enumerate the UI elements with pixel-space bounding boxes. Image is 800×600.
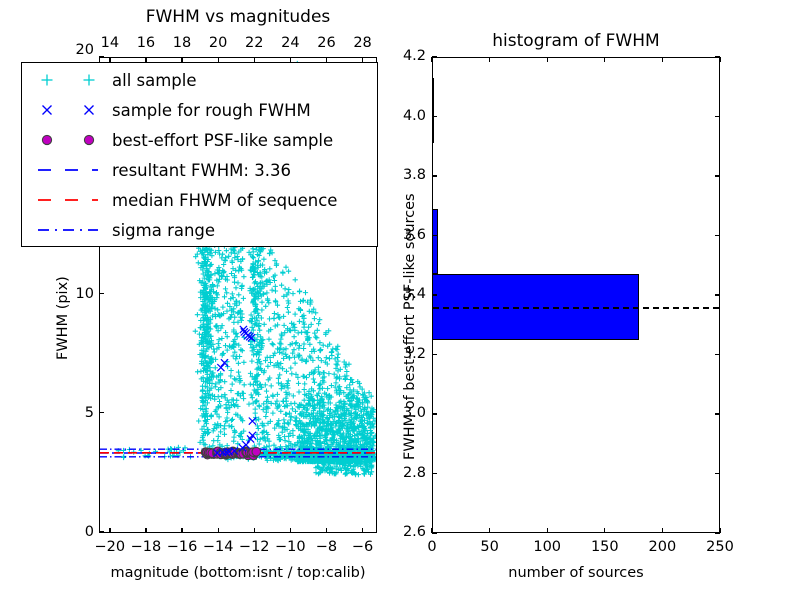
right-ytick-2 bbox=[432, 413, 437, 414]
left-xtick-bottom-label-1: −18 bbox=[128, 539, 164, 555]
left-xtick-bottom-1 bbox=[145, 528, 146, 533]
left-xaxis-label: magnitude (bottom:isnt / top:calib) bbox=[99, 565, 377, 581]
histogram-bars bbox=[433, 58, 719, 532]
right-ytick-label-1: 2.8 bbox=[390, 465, 426, 481]
left-xtick-bottom-label-0: −20 bbox=[92, 539, 128, 555]
left-xtick-bottom-label-7: −6 bbox=[345, 539, 381, 555]
right-ytick-right-3 bbox=[715, 354, 720, 355]
legend-entry-rough-fwhm[interactable]: sample for rough FWHM bbox=[26, 95, 371, 125]
left-panel-title: FWHM vs magnitudes bbox=[99, 7, 377, 27]
right-xtick-3 bbox=[604, 528, 605, 533]
right-ytick-right-2 bbox=[715, 413, 720, 414]
right-ytick-5 bbox=[432, 235, 437, 236]
right-ytick-right-7 bbox=[715, 116, 720, 117]
left-ytick-label-5: 5 bbox=[80, 405, 94, 421]
left-xtick-top-label-6: 26 bbox=[309, 35, 343, 51]
right-xaxis-label: number of sources bbox=[432, 565, 720, 581]
right-xtick-1 bbox=[489, 528, 490, 533]
left-xtick-bottom-6 bbox=[326, 528, 327, 533]
legend-entry-psf-like[interactable]: best-effort PSF-like sample bbox=[26, 125, 371, 155]
left-ytick-5 bbox=[99, 412, 104, 413]
legend-key-circle bbox=[26, 125, 110, 155]
right-xtick-top-0 bbox=[431, 57, 432, 62]
legend-label-all-sample: all sample bbox=[110, 71, 197, 90]
left-ytick-10 bbox=[99, 293, 104, 294]
left-xtick-top-label-0: 14 bbox=[93, 35, 127, 51]
left-xtick-bottom-3 bbox=[218, 528, 219, 533]
left-xtick-bottom-7 bbox=[362, 528, 363, 533]
left-ytick-20 bbox=[99, 56, 104, 57]
histogram-bar bbox=[432, 78, 434, 143]
left-xtick-bottom-label-4: −12 bbox=[236, 539, 272, 555]
right-ytick-0 bbox=[432, 532, 437, 533]
legend-key-dashdot bbox=[26, 215, 110, 245]
right-ytick-7 bbox=[432, 116, 437, 117]
legend-label-psf-like: best-effort PSF-like sample bbox=[110, 131, 333, 150]
right-xtick-label-2: 100 bbox=[527, 539, 567, 555]
legend-label-sigma-range: sigma range bbox=[110, 221, 215, 240]
histogram-resultant-fwhm-line bbox=[433, 307, 719, 309]
right-xtick-label-3: 150 bbox=[585, 539, 625, 555]
right-ytick-8 bbox=[432, 56, 437, 57]
right-ytick-1 bbox=[432, 473, 437, 474]
legend-entry-resultant-fwhm[interactable]: resultant FWHM: 3.36 bbox=[26, 155, 371, 185]
right-xtick-top-5 bbox=[719, 57, 720, 62]
legend-key-cross bbox=[26, 95, 110, 125]
left-xtick-bottom-0 bbox=[109, 528, 110, 533]
right-ytick-label-7: 4.0 bbox=[390, 108, 426, 124]
right-ytick-right-1 bbox=[715, 473, 720, 474]
right-xtick-2 bbox=[547, 528, 548, 533]
histogram-bar bbox=[432, 209, 438, 274]
right-ytick-right-6 bbox=[715, 175, 720, 176]
right-ytick-label-0: 2.6 bbox=[390, 524, 426, 540]
legend-key-plus bbox=[26, 65, 110, 95]
left-yaxis-label: FWHM (pix) bbox=[55, 276, 71, 360]
left-xtick-bottom-label-5: −10 bbox=[272, 539, 308, 555]
left-xtick-top-label-5: 24 bbox=[273, 35, 307, 51]
right-ytick-4 bbox=[432, 294, 437, 295]
right-xtick-top-2 bbox=[547, 57, 548, 62]
left-ytick-label-0: 0 bbox=[80, 524, 94, 540]
right-xtick-label-0: 0 bbox=[412, 539, 452, 555]
left-xtick-bottom-5 bbox=[290, 528, 291, 533]
left-xtick-top-label-1: 16 bbox=[129, 35, 163, 51]
right-yaxis-label: FWHM of best-effort PSF-like sources bbox=[402, 193, 418, 460]
right-plot-axes bbox=[432, 57, 720, 533]
right-xtick-top-4 bbox=[662, 57, 663, 62]
right-ytick-right-4 bbox=[715, 294, 720, 295]
right-xtick-label-5: 250 bbox=[700, 539, 740, 555]
legend-key-blue-dashed bbox=[26, 155, 110, 185]
left-xtick-bottom-4 bbox=[254, 528, 255, 533]
right-xtick-5 bbox=[719, 528, 720, 533]
left-ytick-label-20: 20 bbox=[71, 42, 94, 58]
right-ytick-3 bbox=[432, 354, 437, 355]
right-xtick-4 bbox=[662, 528, 663, 533]
right-ytick-right-5 bbox=[715, 235, 720, 236]
left-xtick-bottom-label-2: −16 bbox=[164, 539, 200, 555]
legend-label-rough-fwhm: sample for rough FWHM bbox=[110, 101, 311, 120]
legend-label-resultant-fwhm: resultant FWHM: 3.36 bbox=[110, 161, 291, 180]
left-xtick-top-label-3: 20 bbox=[201, 35, 235, 51]
figure-canvas: FWHM vs magnitudes bbox=[0, 0, 800, 600]
legend-box: all sample sample for rough FWHM best-ef… bbox=[21, 62, 378, 247]
left-xtick-top-label-4: 22 bbox=[237, 35, 271, 51]
right-panel-title: histogram of FWHM bbox=[432, 31, 720, 51]
right-ytick-6 bbox=[432, 175, 437, 176]
left-ytick-0 bbox=[99, 531, 104, 532]
right-xtick-0 bbox=[431, 528, 432, 533]
legend-key-red-dashed bbox=[26, 185, 110, 215]
left-xtick-top-label-7: 28 bbox=[346, 35, 380, 51]
psf-like-point bbox=[252, 447, 261, 456]
left-xtick-top-label-2: 18 bbox=[165, 35, 199, 51]
legend-entry-all-sample[interactable]: all sample bbox=[26, 65, 371, 95]
right-ytick-label-6: 3.8 bbox=[390, 167, 426, 183]
right-xtick-top-1 bbox=[489, 57, 490, 62]
right-ytick-label-8: 4.2 bbox=[390, 48, 426, 64]
right-xtick-top-3 bbox=[604, 57, 605, 62]
right-xtick-label-1: 50 bbox=[470, 539, 510, 555]
left-xtick-bottom-label-6: −8 bbox=[308, 539, 344, 555]
legend-entry-median-fwhm[interactable]: median FHWM of sequence bbox=[26, 185, 371, 215]
left-xtick-bottom-label-3: −14 bbox=[200, 539, 236, 555]
left-xtick-bottom-2 bbox=[181, 528, 182, 533]
right-xtick-label-4: 200 bbox=[642, 539, 682, 555]
legend-entry-sigma-range[interactable]: sigma range bbox=[26, 215, 371, 245]
left-ytick-label-10: 10 bbox=[71, 286, 94, 302]
legend-label-median-fwhm: median FHWM of sequence bbox=[110, 191, 337, 210]
